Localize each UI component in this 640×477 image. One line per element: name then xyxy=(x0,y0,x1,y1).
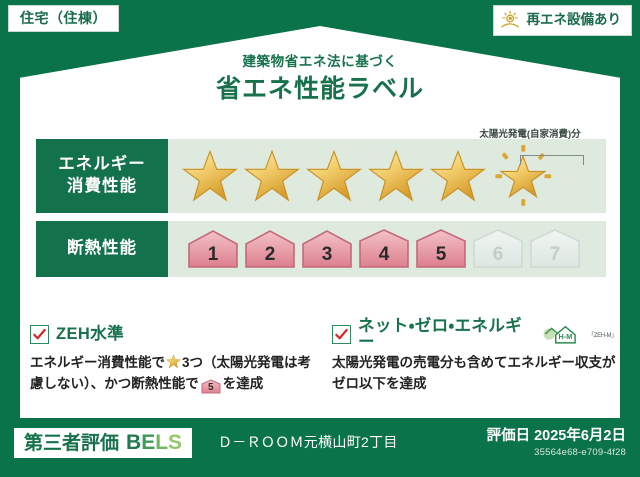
bels-certification-badge: 第三者評価 BELS xyxy=(14,428,192,458)
insulation-level-2: 2 xyxy=(243,228,297,270)
insulation-level-5: 5 xyxy=(414,228,468,270)
criterion-zeh-title: ZEH水準 xyxy=(56,326,124,343)
insulation-performance-label: 断熱性能 xyxy=(36,221,168,277)
insulation-level-value: 1 xyxy=(208,244,219,266)
evaluation-id: 35564e68-e709-4f28 xyxy=(487,448,626,458)
insulation-level-value: 3 xyxy=(322,244,333,266)
criterion-zeh-header: ZEH水準 xyxy=(30,322,314,346)
star-icon xyxy=(182,148,238,204)
check-icon xyxy=(32,327,47,342)
insulation-level-6: 6 xyxy=(471,228,525,270)
insulation-level-4: 4 xyxy=(357,228,411,270)
inline-insulation-badge: 5 xyxy=(201,379,221,394)
evaluation-date: 評価日 2025年6月2日 xyxy=(487,429,626,445)
category-tag: 住宅（住棟） xyxy=(8,5,119,32)
criterion-zeh-text-3: を達成 xyxy=(223,376,264,391)
criterion-net-zero: ネット・ゼロ・エネルギー H-M 「ZEH-M」 太陽光発電の売電分も含めてエネ… xyxy=(332,322,616,395)
checkbox-zeh[interactable] xyxy=(30,325,49,344)
criterion-net-zero-header: ネット・ゼロ・エネルギー H-M 「ZEH-M」 xyxy=(332,322,616,346)
inline-badge-value: 5 xyxy=(201,379,221,397)
criterion-zeh-text-1: エネルギー消費性能で xyxy=(30,355,165,370)
insulation-level-1: 1 xyxy=(186,228,240,270)
renewable-badge-label: 再エネ設備あり xyxy=(527,13,622,27)
solar-bracket xyxy=(520,155,584,165)
criterion-net-zero-body: 太陽光発電の売電分も含めてエネルギー収支がゼロ以下を達成 xyxy=(332,353,616,395)
svg-text:H-M: H-M xyxy=(559,332,573,341)
insulation-performance-row: 断熱性能 1 2 xyxy=(36,221,606,277)
energy-performance-label: 住宅（住棟） 再エネ設備あり 建築物省エネ法に基づく 省エネ性能ラベル エネルギ… xyxy=(0,0,640,477)
star-icon xyxy=(166,354,181,369)
renewable-equipment-badge: 再エネ設備あり xyxy=(493,5,633,36)
criterion-zeh-body: エネルギー消費性能で3つ（太陽光発電は考慮しない）、かつ断熱性能で5を達成 xyxy=(30,353,314,395)
performance-rows: エネルギー 消費性能 xyxy=(36,139,606,285)
bels-logo: BELS xyxy=(126,432,182,453)
energy-star-panel: 太陽光発電(自家消費)分 xyxy=(168,139,606,213)
criterion-zeh: ZEH水準 エネルギー消費性能で3つ（太陽光発電は考慮しない）、かつ断熱性能で5… xyxy=(30,322,314,395)
footer-bar: 第三者評価 BELS Ｄ－ＲＯＯＭ元横山町2丁目 評価日 2025年6月2日 3… xyxy=(0,424,640,477)
star-rating xyxy=(182,145,554,207)
insulation-level-value: 5 xyxy=(436,244,447,266)
solar-generation-note: 太陽光発電(自家消費)分 xyxy=(462,130,598,140)
star-icon xyxy=(306,148,362,204)
sun-icon xyxy=(500,10,522,30)
title-subtitle: 建築物省エネ法に基づく xyxy=(0,55,640,69)
insulation-level-value: 2 xyxy=(265,244,276,266)
energy-label-line2: 消費性能 xyxy=(67,176,137,198)
star-icon xyxy=(244,148,300,204)
bels-jp-label: 第三者評価 xyxy=(24,434,119,453)
insulation-level-value: 7 xyxy=(550,244,561,266)
insulation-level-7: 7 xyxy=(528,228,582,270)
page-title: 省エネ性能ラベル xyxy=(0,77,640,102)
energy-performance-row: エネルギー 消費性能 xyxy=(36,139,606,213)
energy-performance-label: エネルギー 消費性能 xyxy=(36,139,168,213)
building-name: Ｄ－ＲＯＯＭ元横山町2丁目 xyxy=(218,435,398,449)
insulation-level-value: 4 xyxy=(379,244,390,266)
zeh-m-house-icon: H-M xyxy=(542,321,581,347)
check-icon xyxy=(334,327,349,342)
insulation-scale-panel: 1 2 3 4 xyxy=(168,221,606,277)
energy-label-line1: エネルギー xyxy=(58,154,146,176)
title-block: 建築物省エネ法に基づく 省エネ性能ラベル xyxy=(0,55,640,102)
star-icon xyxy=(430,148,486,204)
insulation-level-3: 3 xyxy=(300,228,354,270)
zeh-m-caption: 「ZEH-M」 xyxy=(588,330,616,339)
star-icon xyxy=(368,148,424,204)
criterion-net-zero-title: ネット・ゼロ・エネルギー xyxy=(358,318,533,351)
criteria-section: ZEH水準 エネルギー消費性能で3つ（太陽光発電は考慮しない）、かつ断熱性能で5… xyxy=(30,322,616,395)
insulation-level-value: 6 xyxy=(493,244,504,266)
insulation-label-text: 断熱性能 xyxy=(67,238,137,260)
evaluation-info: 評価日 2025年6月2日 35564e68-e709-4f28 xyxy=(487,429,626,458)
checkbox-net-zero[interactable] xyxy=(332,325,351,344)
